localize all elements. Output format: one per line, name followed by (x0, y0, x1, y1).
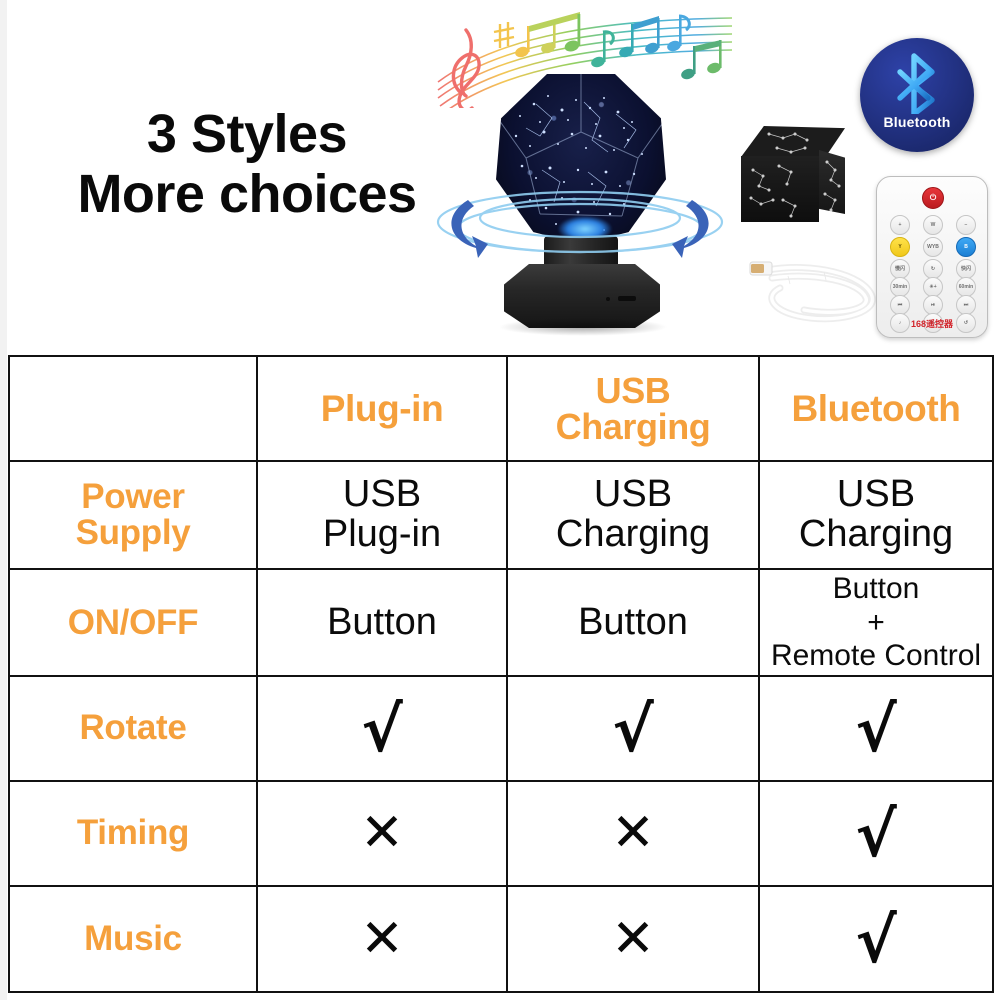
header-cell-empty (9, 356, 257, 461)
remote-plus-button[interactable]: + (890, 215, 910, 235)
cell-line-1: Button (512, 603, 754, 643)
remote-control: ⏻ + W − Y WYB B 慢闪 ↻ 快闪 30min ☀+ 60min ⏮… (876, 176, 988, 338)
cell-line-1: USB (512, 475, 754, 515)
header-label-charging: Charging (512, 409, 754, 445)
cross-icon: ✕ (360, 807, 404, 859)
remote-yellow-button[interactable]: Y (890, 237, 910, 257)
row-label-line-2: Supply (14, 515, 252, 551)
bluetooth-badge-label: Bluetooth (860, 114, 974, 130)
table-row: Power Supply USB Plug-in USB Charging US… (9, 461, 993, 569)
remote-previous-button[interactable]: ⏮ (890, 295, 910, 315)
cell-power-bluetooth: USB Charging (759, 461, 993, 569)
cell-onoff-plug-in: Button (257, 569, 507, 676)
comparison-table: Plug-in USB Charging Bluetooth Power Sup… (8, 355, 994, 993)
remote-fast-flash-button[interactable]: 快闪 (956, 259, 976, 279)
star-projector-lamp (440, 68, 720, 360)
header-label-usb: USB (512, 373, 754, 409)
cell-onoff-bluetooth: Button + Remote Control (759, 569, 993, 676)
cell-line-2: Plug-in (262, 515, 502, 555)
table-row: ON/OFF Button Button Button + Remote Con… (9, 569, 993, 676)
header-cell-plug-in: Plug-in (257, 356, 507, 461)
remote-wyb-button[interactable]: WYB (923, 237, 943, 257)
cell-onoff-usb-charging: Button (507, 569, 759, 676)
header-cell-usb-charging: USB Charging (507, 356, 759, 461)
check-icon: √ (612, 699, 653, 761)
check-icon: √ (855, 910, 896, 972)
bluetooth-rune-icon (892, 52, 944, 114)
remote-play-pause-button[interactable]: ⏯ (923, 295, 943, 315)
headline-line-2: More choices (52, 164, 442, 224)
cell-power-plug-in: USB Plug-in (257, 461, 507, 569)
cell-line-1: Button (764, 572, 988, 606)
infographic-root: 3 Styles More choices (0, 0, 1000, 1000)
cross-icon: ✕ (360, 913, 404, 965)
row-label-line-1: Timing (14, 815, 252, 851)
rotation-arrows (408, 172, 752, 282)
page-headline: 3 Styles More choices (52, 104, 442, 225)
check-icon: √ (855, 804, 896, 866)
row-label-on-off: ON/OFF (9, 569, 257, 676)
header-cell-bluetooth: Bluetooth (759, 356, 993, 461)
table-row: Rotate √ √ √ (9, 676, 993, 781)
cell-plus-sign: + (764, 606, 988, 640)
cell-rotate-plug-in: √ (257, 676, 507, 781)
remote-slow-flash-button[interactable]: 慢闪 (890, 259, 910, 279)
cross-icon: ✕ (611, 913, 655, 965)
comparison-table-wrapper: Plug-in USB Charging Bluetooth Power Sup… (8, 355, 992, 987)
remote-model-label: 168遥控器 (877, 317, 987, 330)
base-indicator-icon (606, 297, 610, 301)
cell-line-1: Button (262, 603, 502, 643)
row-label-power-supply: Power Supply (9, 461, 257, 569)
cell-line-1: USB (764, 475, 988, 515)
remote-power-button[interactable]: ⏻ (922, 187, 944, 209)
remote-timer-60-button[interactable]: 60min (956, 277, 976, 297)
cell-line-2: Charging (764, 515, 988, 555)
table-row: Music ✕ ✕ √ (9, 886, 993, 992)
header-label-bluetooth: Bluetooth (764, 390, 988, 427)
table-header-row: Plug-in USB Charging Bluetooth (9, 356, 993, 461)
header-label-plug-in: Plug-in (262, 390, 502, 427)
base-shadow (498, 318, 668, 336)
hero-section: 3 Styles More choices (0, 0, 1000, 355)
remote-w-button[interactable]: W (923, 215, 943, 235)
remote-auto-button[interactable]: ↻ (923, 259, 943, 279)
table-row: Timing ✕ ✕ √ (9, 781, 993, 886)
cell-music-bluetooth: √ (759, 886, 993, 992)
bluetooth-badge: Bluetooth (860, 38, 974, 152)
remote-brightness-up-button[interactable]: ☀+ (923, 277, 943, 297)
row-label-line-1: Music (14, 921, 252, 957)
remote-minus-button[interactable]: − (956, 215, 976, 235)
cell-timing-usb-charging: ✕ (507, 781, 759, 886)
remote-blue-button[interactable]: B (956, 237, 976, 257)
row-label-rotate: Rotate (9, 676, 257, 781)
cell-line-2: Remote Control (764, 639, 988, 673)
check-icon: √ (361, 699, 402, 761)
headline-line-1: 3 Styles (52, 104, 442, 164)
cell-music-plug-in: ✕ (257, 886, 507, 992)
cell-rotate-usb-charging: √ (507, 676, 759, 781)
cell-line-1: USB (262, 475, 502, 515)
constellation-gift-box (735, 126, 853, 231)
row-label-timing: Timing (9, 781, 257, 886)
gift-box-constellation-print (735, 126, 853, 231)
remote-next-button[interactable]: ⏭ (956, 295, 976, 315)
cell-rotate-bluetooth: √ (759, 676, 993, 781)
check-icon: √ (855, 699, 896, 761)
cell-timing-plug-in: ✕ (257, 781, 507, 886)
cell-power-usb-charging: USB Charging (507, 461, 759, 569)
row-label-music: Music (9, 886, 257, 992)
row-label-line-1: Rotate (14, 710, 252, 746)
cell-music-usb-charging: ✕ (507, 886, 759, 992)
row-label-line-1: ON/OFF (14, 605, 252, 641)
remote-timer-30-button[interactable]: 30min (890, 277, 910, 297)
usb-port-icon (618, 296, 636, 301)
row-label-line-1: Power (14, 479, 252, 515)
cross-icon: ✕ (611, 807, 655, 859)
cell-line-2: Charging (512, 515, 754, 555)
usb-charging-cable (742, 248, 892, 332)
cell-timing-bluetooth: √ (759, 781, 993, 886)
